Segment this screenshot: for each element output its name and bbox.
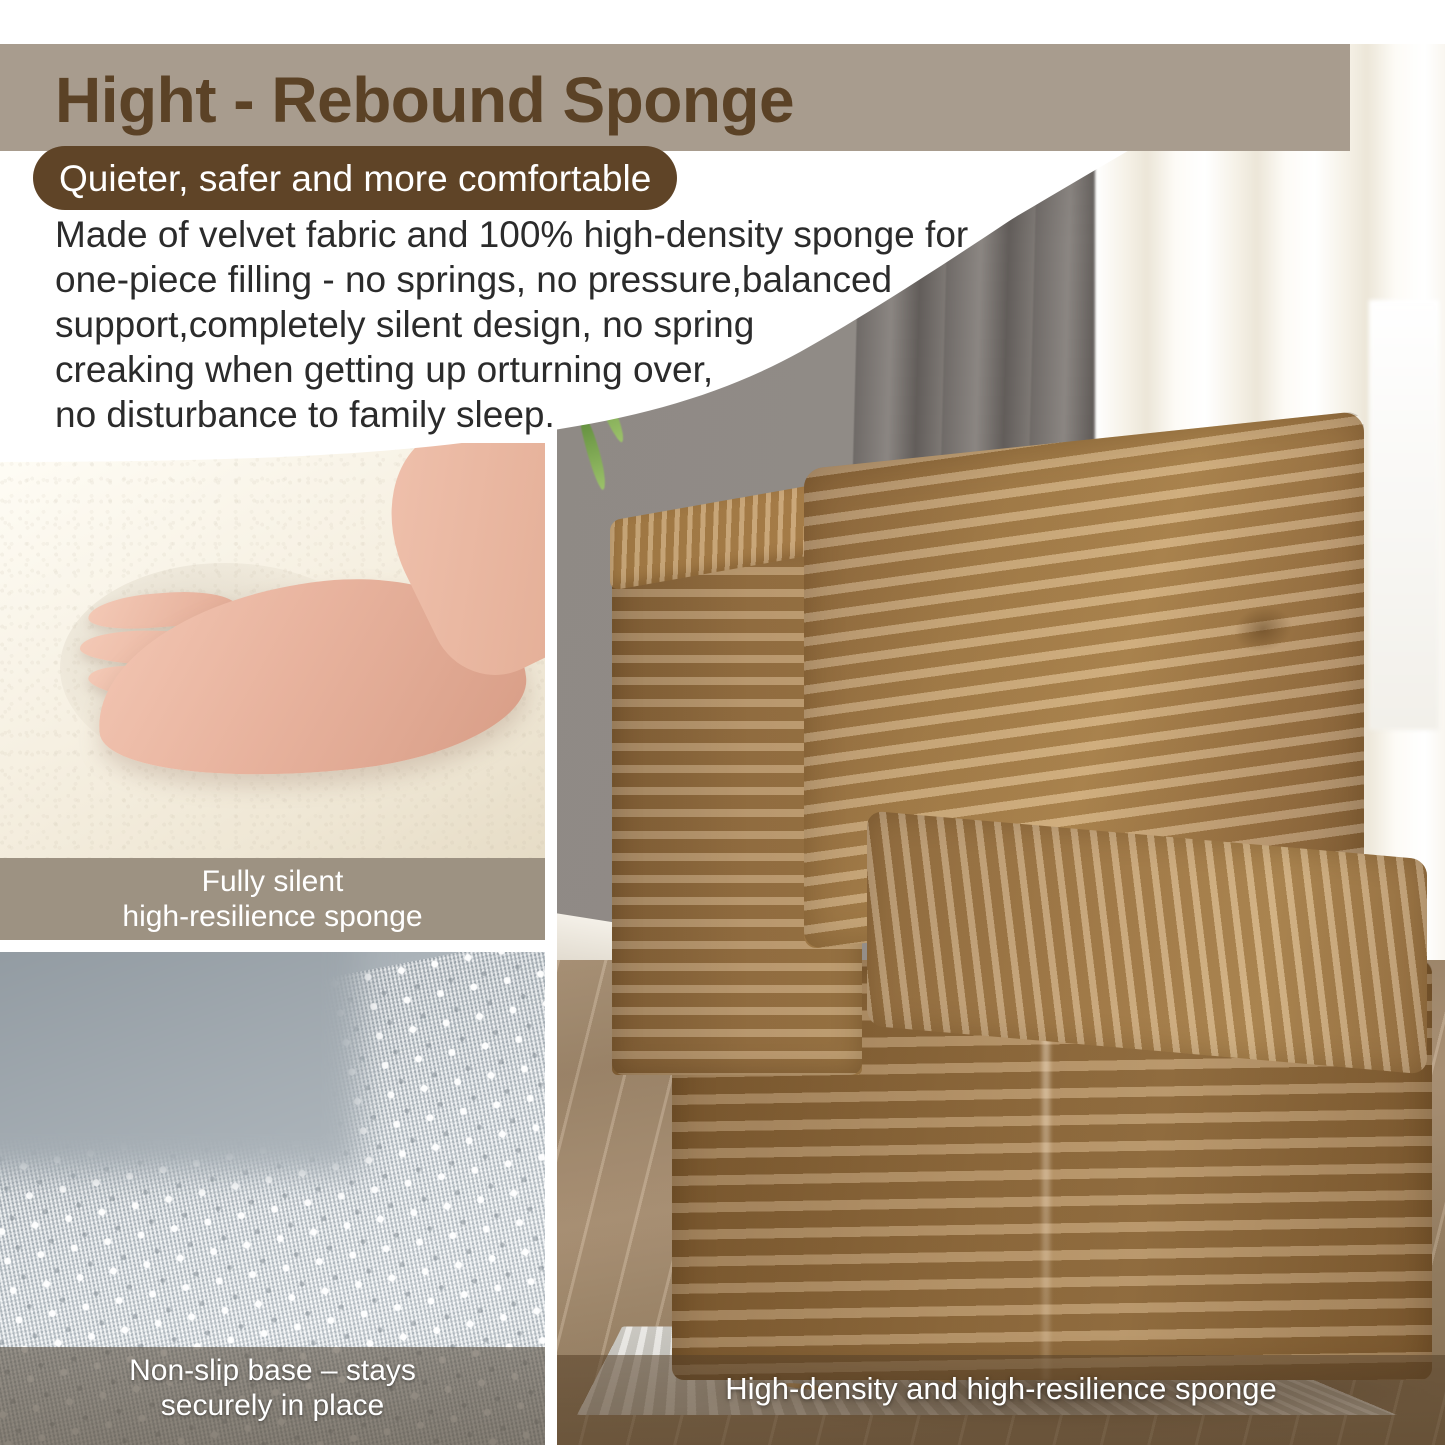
- modular-sofa-chair: [612, 440, 1422, 1140]
- product-infographic: High-density and high-resilience sponge …: [0, 0, 1445, 1445]
- subtitle-pill-text: Quieter, safer and more comfortable: [59, 160, 651, 197]
- top-white-margin: [0, 0, 1445, 44]
- subtitle-pill: Quieter, safer and more comfortable: [33, 146, 677, 210]
- grip-caption-line2: securely in place: [0, 1388, 545, 1423]
- hand-pressing-foam-photo: [0, 443, 545, 858]
- foam-caption-band: Fully silent high-resilience sponge: [0, 858, 545, 940]
- main-photo-caption-text: High-density and high-resilience sponge: [557, 1371, 1445, 1407]
- grip-caption-line1: Non-slip base – stays: [0, 1353, 545, 1388]
- description-line-3: support,completely silent design, no spr…: [55, 302, 1015, 347]
- page-title: Hight - Rebound Sponge: [55, 52, 794, 148]
- description-line-4: creaking when getting up orturning over,: [55, 347, 1015, 392]
- main-photo-caption-band: High-density and high-resilience sponge: [557, 1355, 1445, 1445]
- description-line-2: one-piece filling - no springs, no press…: [55, 257, 1015, 302]
- depth-of-field-blur: [0, 952, 360, 1172]
- description-line-5: no disturbance to family sleep.: [55, 392, 1015, 437]
- foam-caption-line2: high-resilience sponge: [0, 899, 545, 934]
- description-line-1: Made of velvet fabric and 100% high-dens…: [55, 212, 1015, 257]
- non-slip-knit-base-photo: Non-slip base – stays securely in place: [0, 952, 545, 1445]
- description-paragraph: Made of velvet fabric and 100% high-dens…: [55, 212, 1015, 437]
- grip-caption-overlay: Non-slip base – stays securely in place: [0, 1347, 545, 1445]
- foam-caption-line1: Fully silent: [0, 864, 545, 899]
